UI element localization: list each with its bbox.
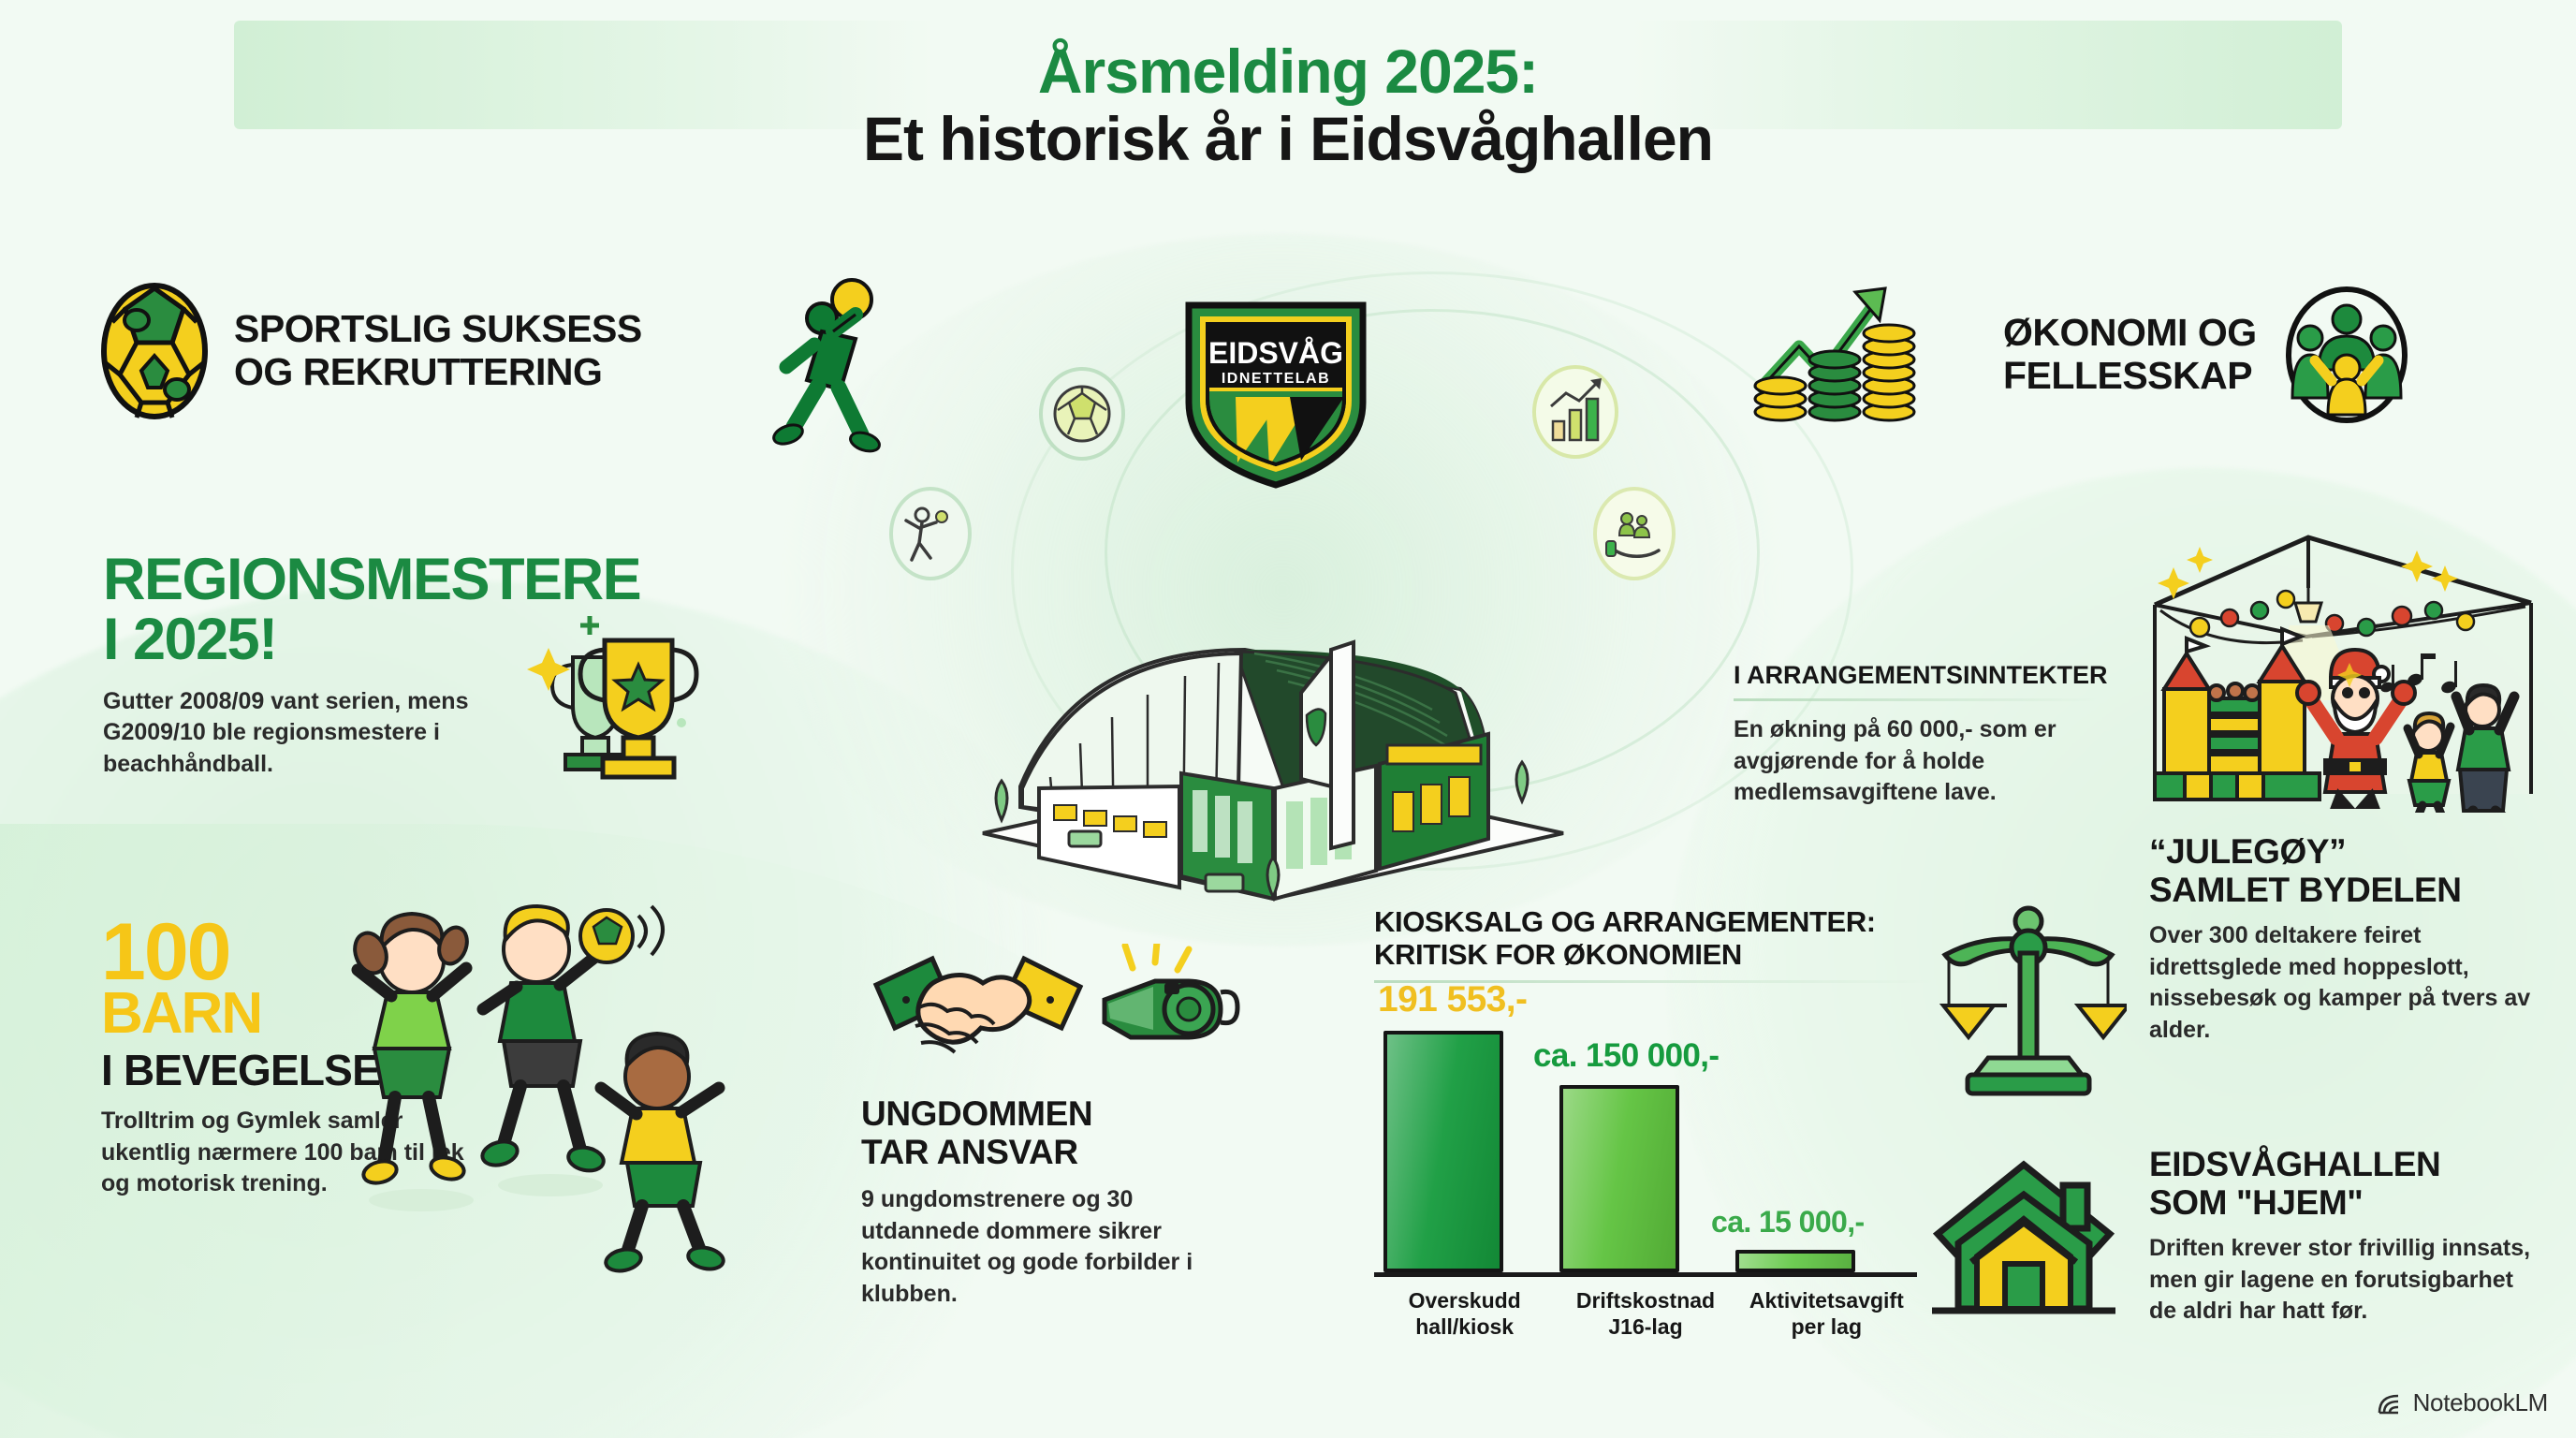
trophy-icon <box>524 599 702 796</box>
ungdommen-body: 9 ungdomstrenere og 30 utdannede dommere… <box>861 1184 1236 1310</box>
house-icon <box>1930 1153 2117 1331</box>
arrangement-rule <box>1734 698 2099 701</box>
hjem-heading-line-2: SOM "HJEM" <box>2149 1184 2552 1223</box>
chart-plot-area: 191 553,- ca. 150 000,- ca. 15 000,- <box>1374 996 1898 1277</box>
logo-name: EIDSVÅG <box>1208 336 1343 370</box>
community-icon <box>2281 286 2412 424</box>
arrangement-body: En økning på 60 000,- som er avgjørende … <box>1734 714 2127 809</box>
handball-ball-icon <box>1037 365 1127 462</box>
title-line-2: Et historisk år i Eidsvåghallen <box>0 105 2576 174</box>
title-line-1: Årsmelding 2025: <box>0 39 2576 105</box>
handball-icon <box>99 281 210 421</box>
handball-player-icon <box>887 485 973 582</box>
arrangement-heading: I ARRANGEMENTSINNTEKTER <box>1734 661 2145 689</box>
ungdommen-heading-line-1: UNGDOMMEN <box>861 1095 1254 1134</box>
christmas-party-icon <box>2147 513 2540 813</box>
eidsvag-logo-shield: EIDSVÅG IDNETTELAB <box>1179 292 1372 492</box>
logo-subtitle: IDNETTELAB <box>1222 371 1330 387</box>
chart-kiosksalg: KIOSKSALG OG ARRANGEMENTER: KRITISK FOR … <box>1374 906 1936 1340</box>
chart-category-0: Overskudd hall/kiosk <box>1374 1288 1555 1339</box>
block-julegoy: “JULEGØY” SAMLET BYDELEN Over 300 deltak… <box>2149 833 2552 1046</box>
chart-category-1: Driftskostnad J16-lag <box>1555 1288 1735 1339</box>
chart-title-line-2: KRITISK FOR ØKONOMIEN <box>1374 939 1936 972</box>
right-banner-line-2: FELLESSKAP <box>2003 355 2257 398</box>
block-eidsvaghallen-hjem: EIDSVÅGHALLEN SOM "HJEM" Driften krever … <box>2149 1146 2552 1328</box>
hjem-heading-line-1: EIDSVÅGHALLEN <box>2149 1146 2552 1184</box>
chart-title-line-1: KIOSKSALG OG ARRANGEMENTER: <box>1374 906 1936 939</box>
chart-bar-label-1: ca. 150 000,- <box>1533 1037 1719 1075</box>
block-arrangementsinntekter: I ARRANGEMENTSINNTEKTER En økning på 60 … <box>1734 661 2145 809</box>
hand-holding-people-icon <box>1591 485 1677 582</box>
eidsvaghallen-arena <box>964 552 1582 908</box>
ungdommen-heading-line-2: TAR ANSVAR <box>861 1134 1254 1172</box>
page-title: Årsmelding 2025: Et historisk år i Eidsv… <box>0 39 2576 174</box>
chart-bar-1 <box>1559 1085 1679 1272</box>
growth-bar-chart-icon <box>1530 363 1620 461</box>
notebooklm-watermark: NotebookLM <box>2376 1388 2548 1417</box>
chart-category-labels: Overskudd hall/kiosk Driftskostnad J16-l… <box>1374 1288 1917 1339</box>
regionsmestere-body: Gutter 2008/09 vant serien, mens G2009/1… <box>103 686 524 781</box>
growth-coins-icon <box>1750 279 1919 429</box>
jumping-children-icon <box>309 899 749 1273</box>
handshake-icon <box>871 946 1086 1086</box>
julegoy-heading-line-2: SAMLET BYDELEN <box>2149 872 2552 910</box>
banner-sportslig-suksess: SPORTSLIG SUKSESS OG REKRUTTERING <box>99 281 642 421</box>
handball-player-jump-icon <box>739 277 899 455</box>
notebooklm-arc-icon <box>2376 1390 2404 1416</box>
chart-bar-2 <box>1735 1250 1855 1272</box>
chart-bar-label-2: ca. 15 000,- <box>1711 1205 1865 1240</box>
left-banner-line-1: SPORTSLIG SUKSESS <box>234 308 642 351</box>
whistle-icon <box>1097 944 1247 1065</box>
right-banner-line-1: ØKONOMI OG <box>2003 312 2257 355</box>
hjem-body: Driften krever stor frivillig innsats, m… <box>2149 1233 2542 1328</box>
chart-bar-label-0: 191 553,- <box>1378 979 1527 1020</box>
julegoy-body: Over 300 deltakere feiret idrettsglede m… <box>2149 920 2542 1046</box>
block-ungdommen-tar-ansvar: UNGDOMMEN TAR ANSVAR 9 ungdomstrenere og… <box>861 1095 1254 1310</box>
balance-scales-icon <box>1930 901 2127 1107</box>
banner-okonomi-fellesskap: ØKONOMI OG FELLESSKAP <box>2003 286 2412 424</box>
notebooklm-label: NotebookLM <box>2413 1388 2548 1417</box>
chart-category-2: Aktivitetsavgift per lag <box>1736 1288 1917 1339</box>
chart-bar-0 <box>1383 1031 1503 1272</box>
chart-x-axis <box>1374 1272 1917 1277</box>
julegoy-heading-line-1: “JULEGØY” <box>2149 833 2552 872</box>
left-banner-line-2: OG REKRUTTERING <box>234 351 642 394</box>
